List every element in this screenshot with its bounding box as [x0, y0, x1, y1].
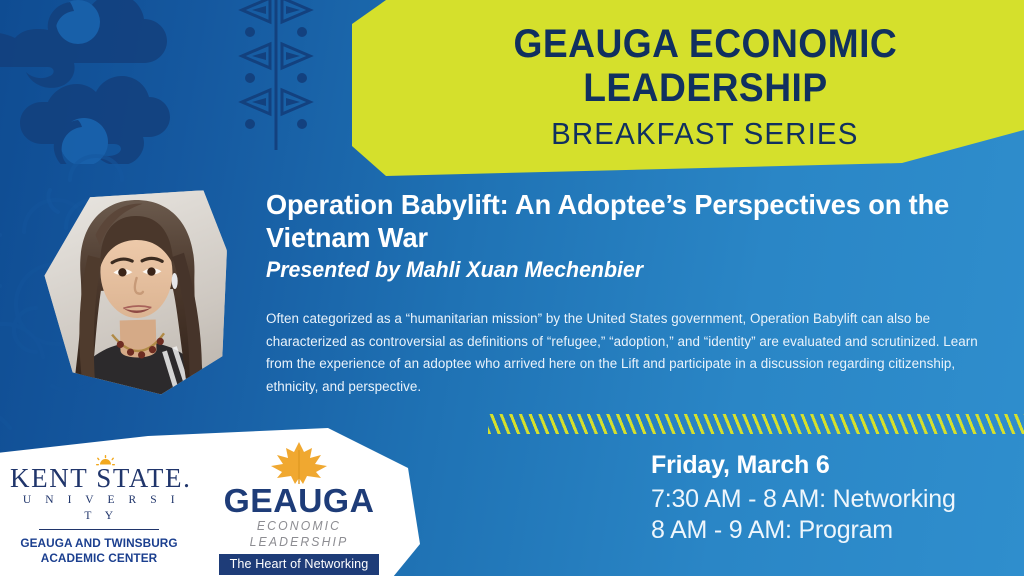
logo-card: KENT STATE. U N I V E R S I T Y GEAUGA A… — [0, 424, 420, 576]
presenter-line: Presented by Mahli Xuan Mechenbier — [266, 256, 968, 284]
kent-state-wordmark: KENT STATE. — [10, 464, 191, 492]
speaker-portrait — [42, 190, 230, 398]
geauga-bar-text: The Heart of Networking — [219, 554, 379, 575]
geauga-wordmark: GEAUGA — [208, 484, 390, 518]
hatch-divider — [488, 414, 1024, 434]
header-banner: GEAUGA ECONOMIC LEADERSHIP BREAKFAST SER… — [0, 0, 1024, 176]
event-flyer: GEAUGA ECONOMIC LEADERSHIP BREAKFAST SER… — [0, 0, 1024, 576]
kent-state-center-line2: ACADEMIC CENTER — [14, 551, 183, 566]
geauga-tagline: ECONOMIC LEADERSHIP — [213, 518, 386, 550]
page-title: Operation Babylift: An Adoptee’s Perspec… — [266, 188, 968, 254]
event-description: Often categorized as a “humanitarian mis… — [266, 308, 980, 398]
kent-state-center-line1: GEAUGA AND TWINSBURG — [14, 536, 183, 551]
kent-state-divider — [39, 529, 159, 530]
banner-text-block: GEAUGA ECONOMIC LEADERSHIP BREAKFAST SER… — [386, 0, 1024, 176]
kent-state-university-label: U N I V E R S I T Y — [10, 492, 188, 524]
banner-subtitle: BREAKFAST SERIES — [551, 114, 858, 154]
event-schedule-networking: 7:30 AM - 8 AM: Networking — [651, 484, 956, 515]
maple-leaf-icon — [271, 442, 327, 484]
banner-title-line1: GEAUGA ECONOMIC — [513, 22, 897, 66]
banner-title-line2: LEADERSHIP — [583, 66, 827, 110]
geauga-logo: GEAUGA ECONOMIC LEADERSHIP The Heart of … — [210, 444, 388, 576]
kent-state-logo: KENT STATE. U N I V E R S I T Y GEAUGA A… — [10, 464, 188, 566]
sunburst-icon — [96, 455, 115, 468]
event-date: Friday, March 6 — [651, 450, 830, 480]
event-schedule-program: 8 AM - 9 AM: Program — [651, 515, 893, 546]
maple-leaf-icon-wrap — [210, 444, 388, 484]
portrait-illustration — [42, 190, 230, 398]
